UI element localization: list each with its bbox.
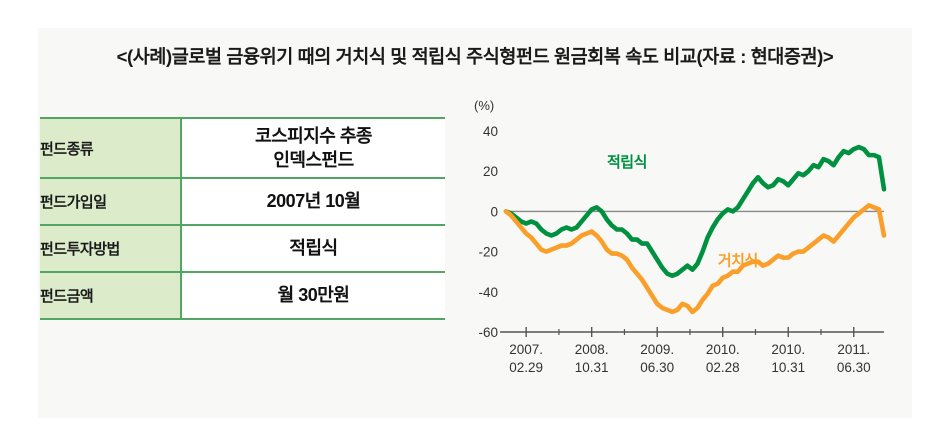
- x-tick-label-line2: 02.29: [509, 360, 543, 375]
- y-tick-label: -60: [478, 325, 498, 340]
- table-row-label: 펀드투자방법: [40, 225, 181, 272]
- chart-svg: (%)40200-20-40-60 2007.02.292008.10.3120…: [462, 96, 892, 391]
- table-row: 펀드가입일 2007년 10월: [40, 178, 445, 225]
- table-row-value: 2007년 10월: [181, 178, 445, 225]
- x-axis: 2007.02.292008.10.312009.06.302010.02.28…: [500, 327, 884, 375]
- y-tick-label: 40: [483, 124, 498, 139]
- x-tick-label-line1: 2010.: [771, 342, 805, 357]
- x-tick-label-line1: 2011.: [837, 342, 870, 357]
- x-tick-label-line1: 2009.: [640, 342, 674, 357]
- x-tick-label-line2: 10.31: [771, 360, 805, 375]
- table-row-value-line1: 2007년 10월: [182, 189, 445, 213]
- series-line-거치식: [506, 205, 884, 312]
- y-axis-unit-label: (%): [474, 98, 494, 113]
- x-tick-label-line1: 2007.: [509, 342, 543, 357]
- table-row-value-line1: 코스피지수 추종: [182, 124, 445, 148]
- table-row-value-line2: 인덱스펀드: [182, 148, 445, 172]
- table-row-label: 펀드금액: [40, 272, 181, 319]
- x-tick-label-line2: 06.30: [640, 360, 674, 375]
- table-row-value: 월 30만원: [181, 272, 445, 319]
- table-row-label: 펀드가입일: [40, 178, 181, 225]
- table-row-value: 코스피지수 추종 인덱스펀드: [181, 118, 445, 178]
- page-title: <(사례)글로벌 금융위기 때의 거치식 및 적립식 주식형펀드 원금회복 속도…: [38, 46, 912, 68]
- y-tick-label: 20: [483, 164, 498, 179]
- table-row-label: 펀드종류: [40, 118, 181, 178]
- fund-info-table: 펀드종류 코스피지수 추종 인덱스펀드 펀드가입일 2007년 10월 펀드투자…: [40, 117, 445, 320]
- series-lines: [506, 147, 884, 312]
- y-tick-label: -20: [478, 245, 498, 260]
- table-row-value-line1: 적립식: [182, 236, 445, 260]
- table-row: 펀드금액 월 30만원: [40, 272, 445, 319]
- x-tick-label-line1: 2010.: [706, 342, 740, 357]
- figure-root: <(사례)글로벌 금융위기 때의 거치식 및 적립식 주식형펀드 원금회복 속도…: [0, 0, 930, 442]
- y-tick-label: -40: [478, 285, 498, 300]
- y-tick-label: 0: [490, 204, 498, 219]
- table-row-value: 적립식: [181, 225, 445, 272]
- series-label-거치식: 거치식: [718, 253, 758, 270]
- y-axis: (%)40200-20-40-60: [474, 98, 884, 340]
- series-label-적립식: 적립식: [607, 153, 647, 171]
- table-row: 펀드투자방법 적립식: [40, 225, 445, 272]
- recovery-speed-chart: (%)40200-20-40-60 2007.02.292008.10.3120…: [462, 96, 892, 391]
- table-body: 펀드종류 코스피지수 추종 인덱스펀드 펀드가입일 2007년 10월 펀드투자…: [40, 118, 445, 319]
- x-tick-label-line2: 06.30: [837, 360, 871, 375]
- x-tick-label-line2: 02.28: [706, 360, 740, 375]
- x-tick-label-line1: 2008.: [575, 342, 609, 357]
- table-row: 펀드종류 코스피지수 추종 인덱스펀드: [40, 118, 445, 178]
- x-tick-label-line2: 10.31: [575, 360, 609, 375]
- table-row-value-line1: 월 30만원: [182, 283, 445, 307]
